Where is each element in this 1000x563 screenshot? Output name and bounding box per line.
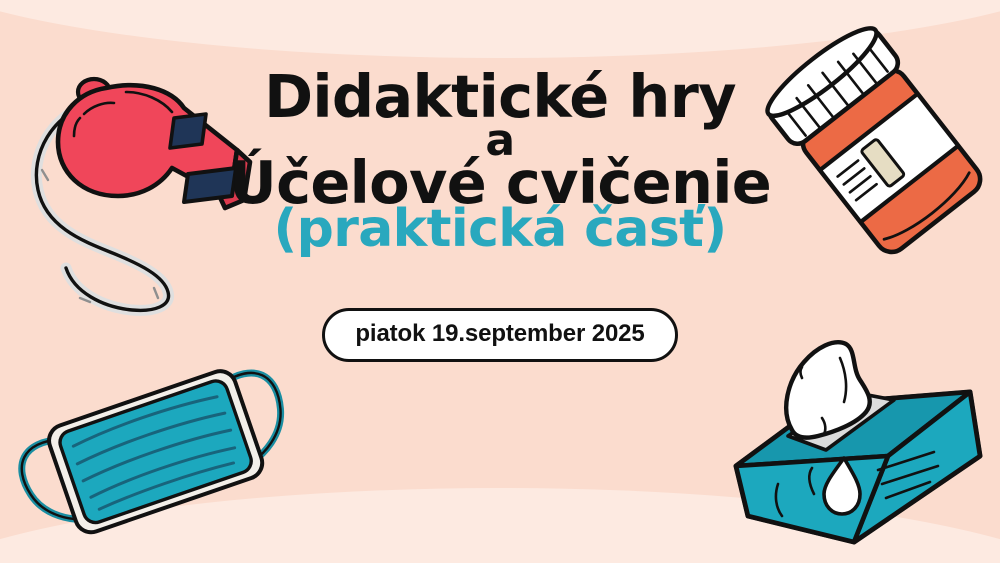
date-badge: piatok 19.september 2025 <box>322 308 677 362</box>
wet-wipes-illustration <box>722 334 994 556</box>
poster-canvas: Didaktické hry a Účelové cvičenie (prakt… <box>0 0 1000 563</box>
pill-bottle-illustration <box>772 34 1000 274</box>
face-mask-illustration <box>14 358 296 548</box>
subtitle: (praktická časť) <box>273 205 726 254</box>
